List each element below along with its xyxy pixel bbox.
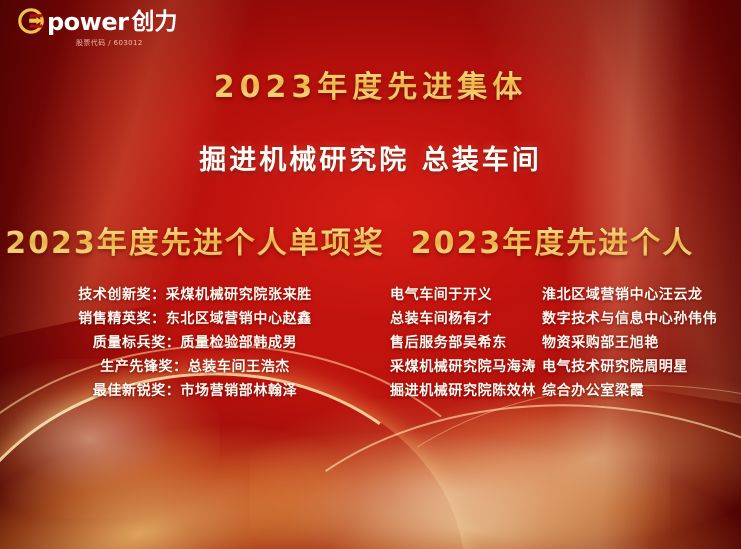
collective-winners: 掘进机械研究院 总装车间 xyxy=(0,138,741,177)
list-item: 生产先锋奖：总装车间王浩杰 xyxy=(100,355,290,379)
single-awards-list: 技术创新奖：采煤机械研究院张来胜 销售精英奖：东北区域营销中心赵鑫 质量标兵奖：… xyxy=(0,283,390,403)
list-item: 技术创新奖：采煤机械研究院张来胜 xyxy=(78,283,312,307)
brand-logo: power 创力 股票代码 / 603012 xyxy=(18,8,218,48)
c-power-circle-logo-icon xyxy=(18,8,44,34)
winner-name: 物资采购部王旭艳 xyxy=(542,331,719,355)
heading-single-awards: 2023年度先进个人单项奖 xyxy=(0,218,390,262)
winner-name: 总装车间杨有才 xyxy=(390,307,542,331)
logo-row: power 创力 xyxy=(18,8,218,34)
award-lists: 技术创新奖：采煤机械研究院张来胜 销售精英奖：东北区域营销中心赵鑫 质量标兵奖：… xyxy=(0,283,741,403)
list-item: 最佳新锐奖：市场营销部林翰泽 xyxy=(93,379,297,403)
logo-wordmark-cn: 创力 xyxy=(131,11,177,34)
logo-wordmark: power xyxy=(47,10,128,34)
winner-name: 采煤机械研究院马海涛 xyxy=(390,355,542,379)
list-item: 销售精英奖：东北区域营销中心赵鑫 xyxy=(78,307,312,331)
winner-name: 电气车间于开义 xyxy=(390,283,542,307)
list-item: 质量标兵奖：质量检验部韩成男 xyxy=(93,331,297,355)
page-title: 2023年度先进集体 xyxy=(0,62,741,106)
winner-name: 电气技术研究院周明星 xyxy=(542,355,719,379)
list-item: 总装车间杨有才 数字技术与信息中心孙伟伟 xyxy=(390,307,719,331)
list-item: 售后服务部吴希东 物资采购部王旭艳 xyxy=(390,331,719,355)
winner-name: 掘进机械研究院陈效林 xyxy=(390,379,542,403)
poster-content: 2023年度先进集体 掘进机械研究院 总装车间 2023年度先进个人单项奖 20… xyxy=(0,0,741,549)
list-item: 掘进机械研究院陈效林 综合办公室梁霞 xyxy=(390,379,719,403)
winner-name: 综合办公室梁霞 xyxy=(542,379,719,403)
winner-name: 淮北区域营销中心汪云龙 xyxy=(542,283,719,307)
list-item: 采煤机械研究院马海涛 电气技术研究院周明星 xyxy=(390,355,719,379)
heading-advanced-individuals: 2023年度先进个人 xyxy=(390,218,741,262)
list-item: 电气车间于开义 淮北区域营销中心汪云龙 xyxy=(390,283,719,307)
advanced-individuals-list: 电气车间于开义 淮北区域营销中心汪云龙 总装车间杨有才 数字技术与信息中心孙伟伟… xyxy=(390,283,741,403)
winner-name: 数字技术与信息中心孙伟伟 xyxy=(542,307,719,331)
winner-name: 售后服务部吴希东 xyxy=(390,331,542,355)
logo-stock-code: 股票代码 / 603012 xyxy=(76,38,218,48)
award-poster: power 创力 股票代码 / 603012 2023年度先进集体 掘进机械研究… xyxy=(0,0,741,549)
section-headings: 2023年度先进个人单项奖 2023年度先进个人 xyxy=(0,218,741,262)
